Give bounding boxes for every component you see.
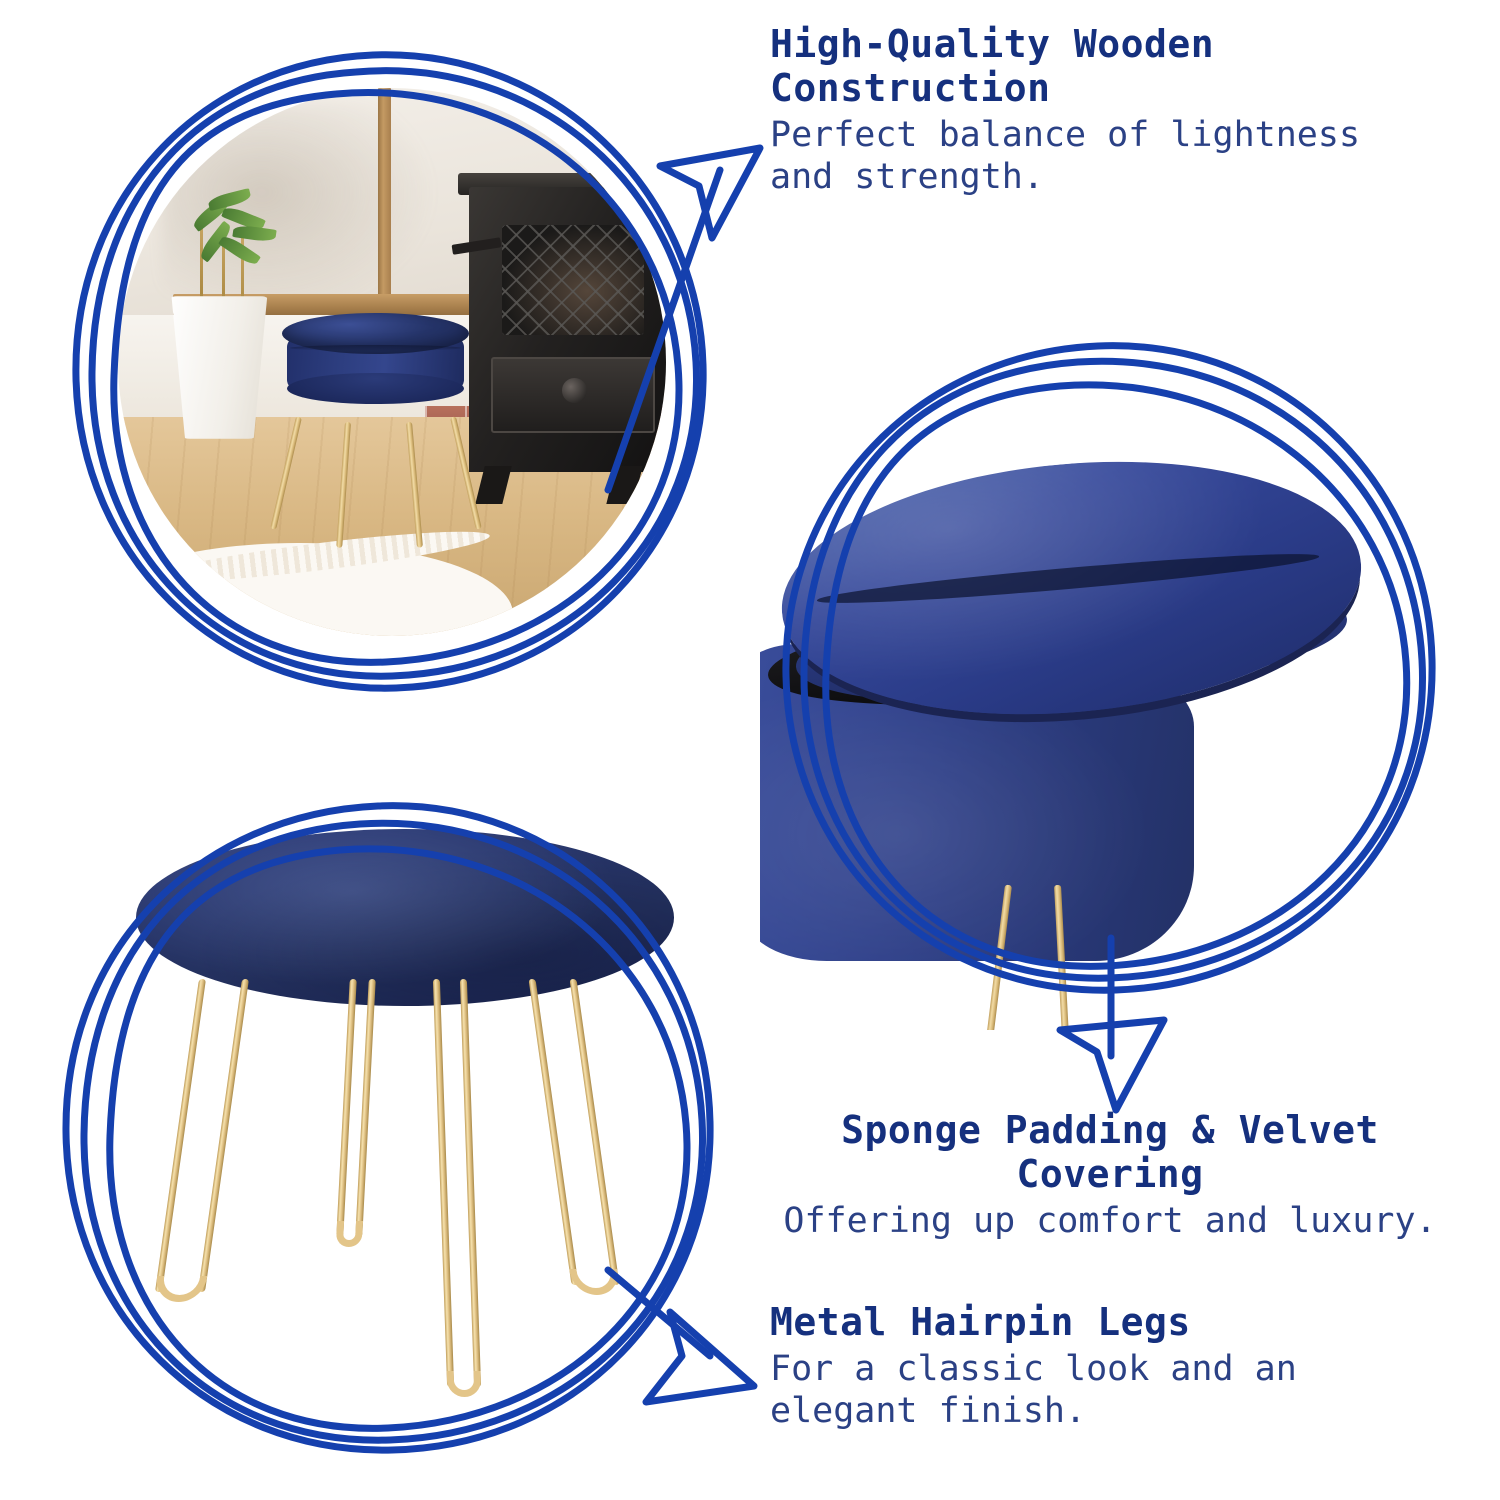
stool-body-bottom	[287, 373, 464, 404]
feature-body: For a classic look and an elegant finish…	[770, 1348, 1430, 1432]
feature-body: Offering up comfort and luxury.	[760, 1200, 1460, 1242]
hairpin-legs-photo	[60, 795, 750, 1475]
feature-text-metal-hairpin-legs: Metal Hairpin Legs For a classic look an…	[770, 1300, 1430, 1432]
feature-text-sponge-padding-velvet: Sponge Padding & Velvet Covering Offerin…	[760, 1108, 1460, 1242]
hairpin-leg	[432, 979, 480, 1387]
feature-heading: Sponge Padding & Velvet Covering	[760, 1108, 1460, 1196]
hairpin-leg	[336, 979, 376, 1237]
room-scene-photo	[118, 88, 666, 636]
feature-heading: High-Quality Wooden Construction	[770, 22, 1430, 110]
hairpin-leg	[528, 979, 619, 1285]
stove-glass-door	[502, 225, 644, 335]
feature-panel-metal-hairpin-legs: Metal Hairpin Legs For a classic look an…	[0, 780, 760, 1500]
hairpin-legs-illustration	[60, 795, 750, 1475]
room-scene-illustration	[118, 88, 666, 636]
lid-closeup-illustration	[760, 340, 1460, 1030]
feature-panel-sponge-padding-velvet: Sponge Padding & Velvet Covering Offerin…	[740, 330, 1500, 1290]
hairpin-leg	[155, 979, 249, 1292]
feature-heading: Metal Hairpin Legs	[770, 1300, 1430, 1344]
feature-panel-wooden-construction: High-Quality Wooden Construction Perfect…	[0, 0, 760, 740]
stove-knob	[562, 378, 587, 403]
product-feature-infographic: High-Quality Wooden Construction Perfect…	[0, 0, 1500, 1500]
timber-beam-vertical	[378, 88, 391, 307]
feature-body: Perfect balance of lightness and strengt…	[770, 114, 1430, 198]
velvet-stool	[282, 313, 468, 434]
feature-text-wooden-construction: High-Quality Wooden Construction Perfect…	[770, 22, 1430, 198]
lid-closeup-photo	[760, 340, 1460, 1030]
